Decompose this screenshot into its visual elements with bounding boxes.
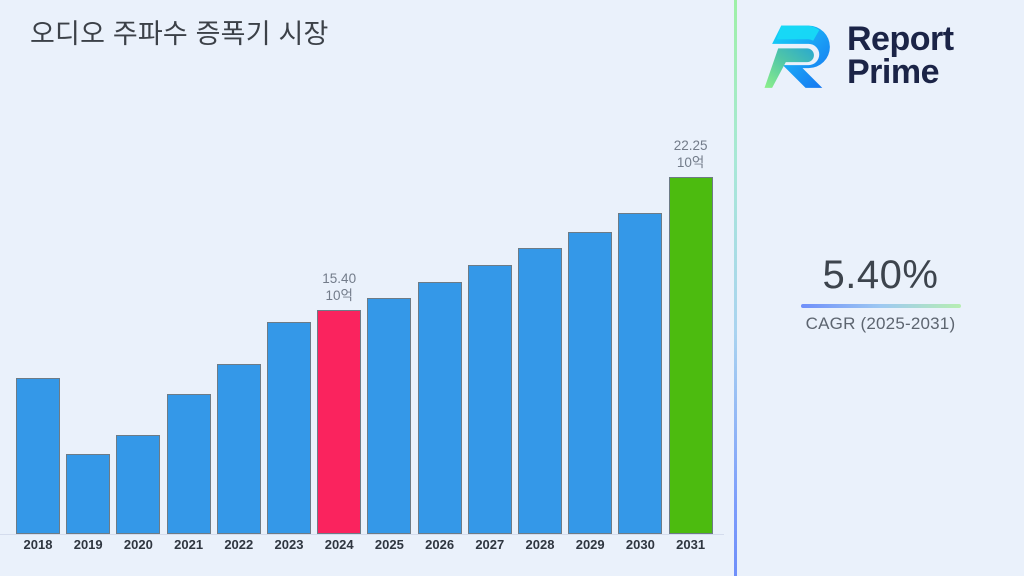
bar-2030[interactable] <box>618 213 662 534</box>
bar-2028[interactable] <box>518 248 562 534</box>
x-tick-2031: 2031 <box>669 537 713 552</box>
brand-wordmark: Report Prime <box>847 23 954 90</box>
x-tick-2021: 2021 <box>167 537 211 552</box>
x-tick-2018: 2018 <box>16 537 60 552</box>
bar-unit-2031: 10억 <box>674 154 708 171</box>
bar-2021[interactable] <box>167 394 211 534</box>
x-tick-2019: 2019 <box>66 537 110 552</box>
x-tick-2030: 2030 <box>618 537 662 552</box>
bar-value-label-2031: 22.2510억 <box>674 137 708 171</box>
chart-baseline <box>0 534 724 535</box>
x-tick-2022: 2022 <box>217 537 261 552</box>
bar-2023[interactable] <box>267 322 311 534</box>
x-tick-2028: 2028 <box>518 537 562 552</box>
bar-2018[interactable] <box>16 378 60 534</box>
cagr-caption: CAGR (2025-2031) <box>737 314 1024 334</box>
cagr-divider-rule <box>801 304 961 308</box>
bar-unit-2024: 10억 <box>322 287 356 304</box>
x-tick-2027: 2027 <box>468 537 512 552</box>
x-tick-2024: 2024 <box>317 537 361 552</box>
bar-2029[interactable] <box>568 232 612 534</box>
chart-panel: 오디오 주파수 증폭기 시장 15.4010억22.2510억 20182019… <box>0 0 735 576</box>
bar-2019[interactable] <box>66 454 110 534</box>
bar-value-2031: 22.25 <box>674 137 708 154</box>
x-tick-2025: 2025 <box>367 537 411 552</box>
infographic-root: 오디오 주파수 증폭기 시장 15.4010억22.2510억 20182019… <box>0 0 1024 576</box>
bar-2026[interactable] <box>418 282 462 534</box>
cagr-block: 5.40% CAGR (2025-2031) <box>737 252 1024 334</box>
cagr-value: 5.40% <box>737 252 1024 298</box>
page-title: 오디오 주파수 증폭기 시장 <box>30 12 329 51</box>
x-tick-2023: 2023 <box>267 537 311 552</box>
bar-2025[interactable] <box>367 298 411 534</box>
x-axis-tick-labels: 2018201920202021202220232024202520262027… <box>0 537 735 565</box>
x-tick-2026: 2026 <box>418 537 462 552</box>
bar-2027[interactable] <box>468 265 512 534</box>
x-tick-2020: 2020 <box>116 537 160 552</box>
x-tick-2029: 2029 <box>568 537 612 552</box>
brand-panel: Report Prime 5.40% CAGR (2025-2031) <box>737 0 1024 576</box>
bar-2024[interactable] <box>317 310 361 534</box>
bar-2020[interactable] <box>116 435 160 534</box>
bar-2022[interactable] <box>217 364 261 534</box>
bar-value-label-2024: 15.4010억 <box>322 270 356 304</box>
brand-line-1: Report <box>847 20 954 58</box>
report-prime-r-mark-icon <box>763 18 839 94</box>
bar-chart: 15.4010억22.2510억 <box>0 120 735 535</box>
bar-value-2024: 15.40 <box>322 270 356 287</box>
bar-2031[interactable] <box>669 177 713 534</box>
brand-line-2: Prime <box>847 53 939 91</box>
report-prime-logo[interactable]: Report Prime <box>763 10 1008 102</box>
